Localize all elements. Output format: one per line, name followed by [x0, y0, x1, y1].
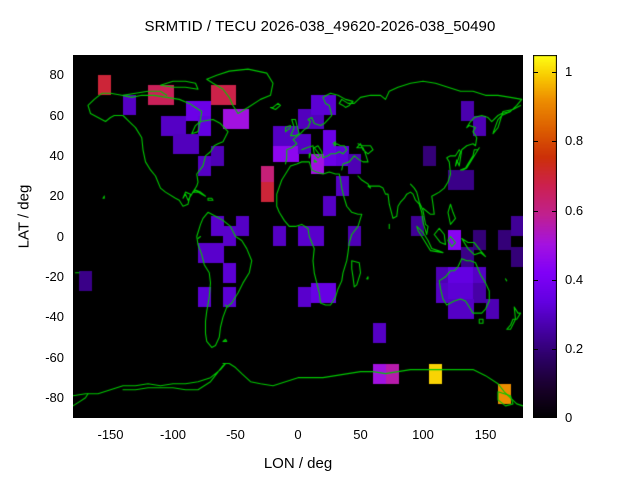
colorbar-tick-mark — [533, 349, 538, 350]
colorbar-tick-mark — [533, 211, 538, 212]
x-tick-label: 0 — [263, 427, 333, 442]
colorbar-tick-label: 0.4 — [565, 272, 625, 287]
x-axis-title: LON / deg — [73, 455, 523, 472]
colorbar-tick-mark — [552, 280, 557, 281]
y-tick-label: 20 — [6, 188, 64, 203]
page-title: SRMTID / TECU 2026-038_49620-2026-038_50… — [0, 18, 640, 35]
colorbar-tick-mark — [552, 72, 557, 73]
y-tick-label: 60 — [6, 108, 64, 123]
colorbar-tick-label: 0 — [565, 410, 625, 425]
x-tick-label: 50 — [326, 427, 396, 442]
colorbar — [533, 55, 557, 418]
y-tick-label: -80 — [6, 390, 64, 405]
x-tick-label: 150 — [451, 427, 521, 442]
map-plot-area[interactable] — [73, 55, 523, 418]
colorbar-tick-mark — [533, 72, 538, 73]
colorbar-gradient — [533, 55, 557, 418]
y-tick-label: 80 — [6, 67, 64, 82]
colorbar-tick-mark — [552, 349, 557, 350]
colorbar-tick-mark — [552, 211, 557, 212]
y-tick-label: -60 — [6, 350, 64, 365]
colorbar-tick-mark — [533, 141, 538, 142]
y-tick-label: 40 — [6, 148, 64, 163]
x-tick-label: -150 — [76, 427, 146, 442]
colorbar-tick-mark — [552, 141, 557, 142]
coastline-overlay-canvas — [73, 55, 523, 418]
x-tick-label: 100 — [388, 427, 458, 442]
y-axis-title: LAT / deg — [16, 147, 33, 287]
x-tick-label: -100 — [138, 427, 208, 442]
colorbar-tick-label: 0.2 — [565, 341, 625, 356]
colorbar-tick-mark — [533, 280, 538, 281]
y-tick-label: 0 — [6, 229, 64, 244]
y-tick-label: -40 — [6, 309, 64, 324]
y-tick-label: -20 — [6, 269, 64, 284]
colorbar-tick-label: 0.8 — [565, 133, 625, 148]
colorbar-tick-label: 0.6 — [565, 203, 625, 218]
colorbar-tick-label: 1 — [565, 64, 625, 79]
x-tick-label: -50 — [201, 427, 271, 442]
